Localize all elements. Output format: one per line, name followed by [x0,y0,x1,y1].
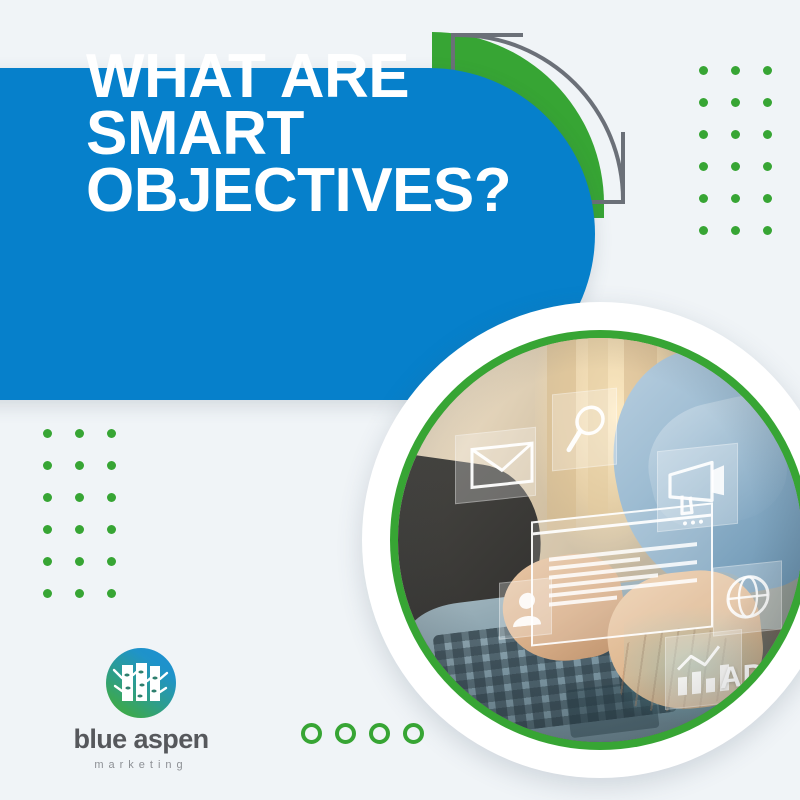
grid-dot [107,429,116,438]
grid-dot [731,226,740,235]
grid-dot [107,589,116,598]
brand-name: blue aspen [46,726,236,753]
grid-dot [699,66,708,75]
brand-tagline: marketing [46,760,236,771]
grid-dot [763,194,772,203]
dot-grid-top-right [699,66,772,235]
grid-dot [699,226,708,235]
grid-dot [75,525,84,534]
grid-dot [731,130,740,139]
grid-dot [43,557,52,566]
grid-dot [75,461,84,470]
brand-logo: blue aspen marketing [46,648,236,771]
grid-dot [763,98,772,107]
grid-dot [763,130,772,139]
grid-dot [43,461,52,470]
grid-dot [75,493,84,502]
laptop-workspace-photo: AD [398,338,800,742]
grid-dot [43,493,52,502]
headline-line-3: OBJECTIVES? [86,162,511,219]
ring-bullet [335,723,356,744]
grid-dot [763,66,772,75]
grid-dot [43,589,52,598]
ring-bullet [403,723,424,744]
grid-dot [699,130,708,139]
ring-bullet [301,723,322,744]
grid-dot [731,66,740,75]
grid-dot [43,429,52,438]
grid-dot [731,98,740,107]
photo-image: AD [398,338,800,742]
photo-circle: AD [362,302,800,778]
headline-line-1: WHAT ARE [86,48,511,105]
ring-bullet [369,723,390,744]
grid-dot [699,98,708,107]
grid-dot [763,162,772,171]
grid-dot [75,429,84,438]
grid-dot [107,493,116,502]
grid-dot [699,162,708,171]
grid-dot [43,525,52,534]
page-title: WHAT ARE SMART OBJECTIVES? [86,48,511,219]
grid-dot [107,461,116,470]
grid-dot [107,525,116,534]
grid-dot [731,162,740,171]
headline-line-2: SMART [86,105,511,162]
grid-dot [763,226,772,235]
aspen-trees-circle-icon [106,648,176,718]
photo-green-ring: AD [390,330,800,750]
grid-dot [699,194,708,203]
dot-grid-left [43,429,116,598]
ring-bullet-row [301,723,424,744]
grid-dot [75,589,84,598]
photo-vignette [398,338,800,742]
poster-canvas: WHAT ARE SMART OBJECTIVES? [0,0,800,800]
grid-dot [107,557,116,566]
grid-dot [731,194,740,203]
grid-dot [75,557,84,566]
